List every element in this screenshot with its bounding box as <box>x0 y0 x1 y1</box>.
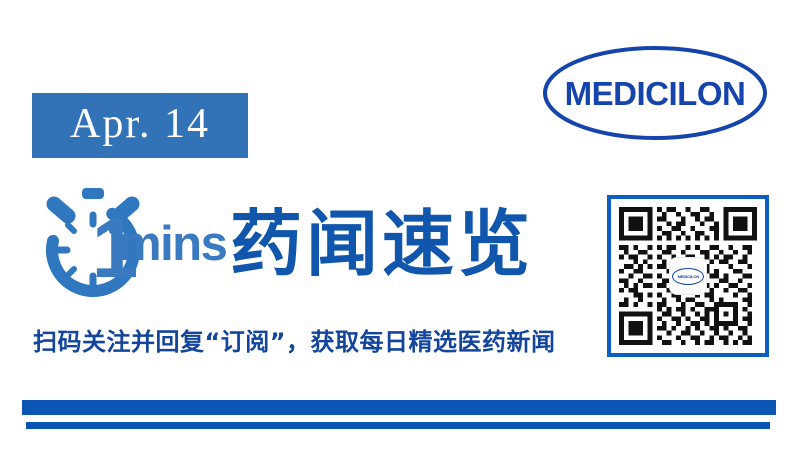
poster-canvas: Apr. 14 MEDICILON <box>0 0 800 468</box>
date-badge: Apr. 14 <box>32 93 248 158</box>
subtitle-text: 扫码关注并回复“订阅”，获取每日精选医药新闻 <box>33 325 556 359</box>
medicilon-logo-text: MEDICILON <box>565 75 746 112</box>
qr-center-logo: MEDICILON <box>670 258 706 294</box>
qr-code[interactable]: MEDICILON <box>607 195 769 357</box>
qr-center-logo-ellipse: MEDICILON <box>672 268 704 285</box>
qr-code-matrix: MEDICILON <box>619 207 757 345</box>
date-badge-label: Apr. 14 <box>70 103 210 149</box>
footer-rule-thin <box>26 422 770 429</box>
masthead-title-cn: 药闻速览 <box>230 201 534 287</box>
minutes-number: 1 <box>80 203 150 293</box>
qr-center-logo-text: MEDICILON <box>677 274 699 279</box>
masthead: 1 mins 药闻速览 <box>34 186 564 301</box>
medicilon-logo: MEDICILON <box>541 43 769 143</box>
footer-rule-thick <box>22 400 776 415</box>
